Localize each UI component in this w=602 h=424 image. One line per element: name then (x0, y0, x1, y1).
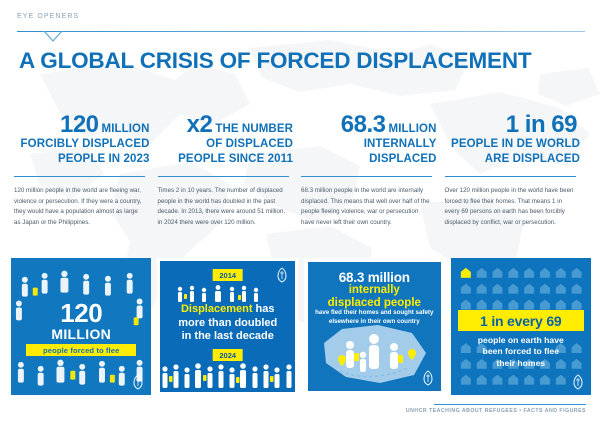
stat-block-3: 68.3MILLION INTERNALLY DISPLACED 68.3 mi… (301, 112, 445, 229)
card2-year-top: 2014 (212, 269, 243, 281)
card3-line-2a: internally (349, 284, 400, 296)
stat-unit: MILLION (389, 123, 437, 135)
stat-divider (14, 176, 145, 177)
poster-card-internally-displaced[interactable]: 68.3 million internally displaced people… (304, 258, 445, 395)
stat-heading: 68.3MILLION (301, 112, 437, 137)
card4-caption-line-1: people on earth have (478, 335, 564, 345)
card1-highlight-band: people forced to flee (26, 344, 136, 356)
stat-unit: THE NUMBER (215, 123, 293, 135)
card2-year-bottom: 2024 (212, 349, 243, 361)
stat-value: x2 (187, 111, 213, 138)
stat-subtitle-2: PEOPLE IN 2023 (14, 153, 150, 166)
stats-row: 120MILLION FORCIBLY DISPLACED PEOPLE IN … (14, 112, 588, 229)
stat-subtitle-2: ARE DISPLACED (445, 153, 581, 166)
stat-unit: MILLION (102, 123, 150, 135)
stat-subtitle-2: PEOPLE SINCE 2011 (158, 153, 294, 166)
card2-headline: Displacement has more than doubled in th… (164, 303, 291, 344)
footer-divider (434, 404, 586, 405)
header-divider (17, 31, 585, 32)
unhcr-logo-icon (275, 267, 289, 283)
stat-value: 68.3 (341, 111, 386, 138)
family-on-map-illustration (316, 323, 434, 385)
unhcr-logo-icon (421, 370, 435, 386)
infographic-page: EYE OPENERS A GLOBAL CRISIS OF FORCED DI… (0, 0, 602, 424)
stat-subtitle-2: DISPLACED (301, 153, 437, 166)
poster-card-120-million[interactable]: 120 MILLION people forced to flee (11, 258, 151, 395)
stat-divider (158, 176, 289, 177)
card4-caption-line-2: been forced to flee (483, 346, 559, 356)
card4-highlight-band: 1 in every 69 (458, 310, 584, 331)
crowd-illustration-large (160, 362, 296, 390)
stat-value: 120 (60, 111, 99, 138)
card4-caption-line-3: their homes (496, 358, 545, 368)
card2-headline-word-2: has (256, 303, 275, 315)
unhcr-logo-icon (571, 374, 585, 390)
stat-block-1: 120MILLION FORCIBLY DISPLACED PEOPLE IN … (14, 112, 158, 229)
stat-subtitle-1: PEOPLE IN DE WORLD (445, 138, 581, 151)
stat-description: 68.3 million people in the world are int… (301, 186, 432, 229)
page-title: A GLOBAL CRISIS OF FORCED DISPLACEMENT (19, 48, 531, 74)
crowd-illustration-small (174, 285, 262, 303)
stat-subtitle-1: OF DISPLACED (158, 138, 294, 151)
card2-headline-line-2: more than doubled (178, 317, 277, 329)
card2-headline-word-1: Displacement (181, 303, 253, 315)
card1-band-text: people forced to flee (43, 346, 119, 355)
card3-line-2b: displaced people (328, 297, 421, 309)
card4-band-text: 1 in every 69 (480, 313, 561, 329)
eyebrow-label: EYE OPENERS (17, 13, 79, 20)
card2-headline-line-3: in the last decade (182, 330, 274, 342)
stat-description: 120 million people in the world are flee… (14, 186, 145, 229)
stat-subtitle-1: INTERNALLY (301, 138, 437, 151)
card3-line-1: 68.3 million (308, 270, 441, 285)
stat-heading: 1 in 69 (445, 112, 581, 137)
card4-caption: people on earth have been forced to flee… (457, 335, 585, 369)
stat-description: Over 120 million people in the world hav… (445, 186, 576, 229)
stat-subtitle-1: FORCIBLY DISPLACED (14, 138, 150, 151)
stat-value: 1 in 69 (506, 111, 577, 138)
divider-notch-icon (43, 31, 63, 42)
poster-card-strip: 120 MILLION people forced to flee 2014 (11, 258, 591, 395)
stat-heading: 120MILLION (14, 112, 150, 137)
stat-block-4: 1 in 69 PEOPLE IN DE WORLD ARE DISPLACED… (445, 112, 589, 229)
poster-card-1-in-69[interactable]: 1 in every 69 people on earth have been … (451, 258, 591, 395)
card1-big-number: 120 (11, 298, 151, 329)
stat-heading: x2THE NUMBER (158, 112, 294, 137)
card3-line-2: internally displaced people (308, 284, 441, 310)
stat-divider (301, 176, 432, 177)
stat-description: Times 2 in 10 years. The number of displ… (158, 186, 289, 229)
footer-text: UNHCR TEACHING ABOUT REFUGEES • FACTS AN… (0, 408, 586, 414)
unhcr-logo-icon (131, 374, 145, 390)
stat-block-2: x2THE NUMBER OF DISPLACED PEOPLE SINCE 2… (158, 112, 302, 229)
poster-card-doubled-decade[interactable]: 2014 Displacement has more than doubled … (157, 258, 298, 395)
stat-divider (445, 176, 576, 177)
card1-unit: MILLION (11, 326, 151, 342)
